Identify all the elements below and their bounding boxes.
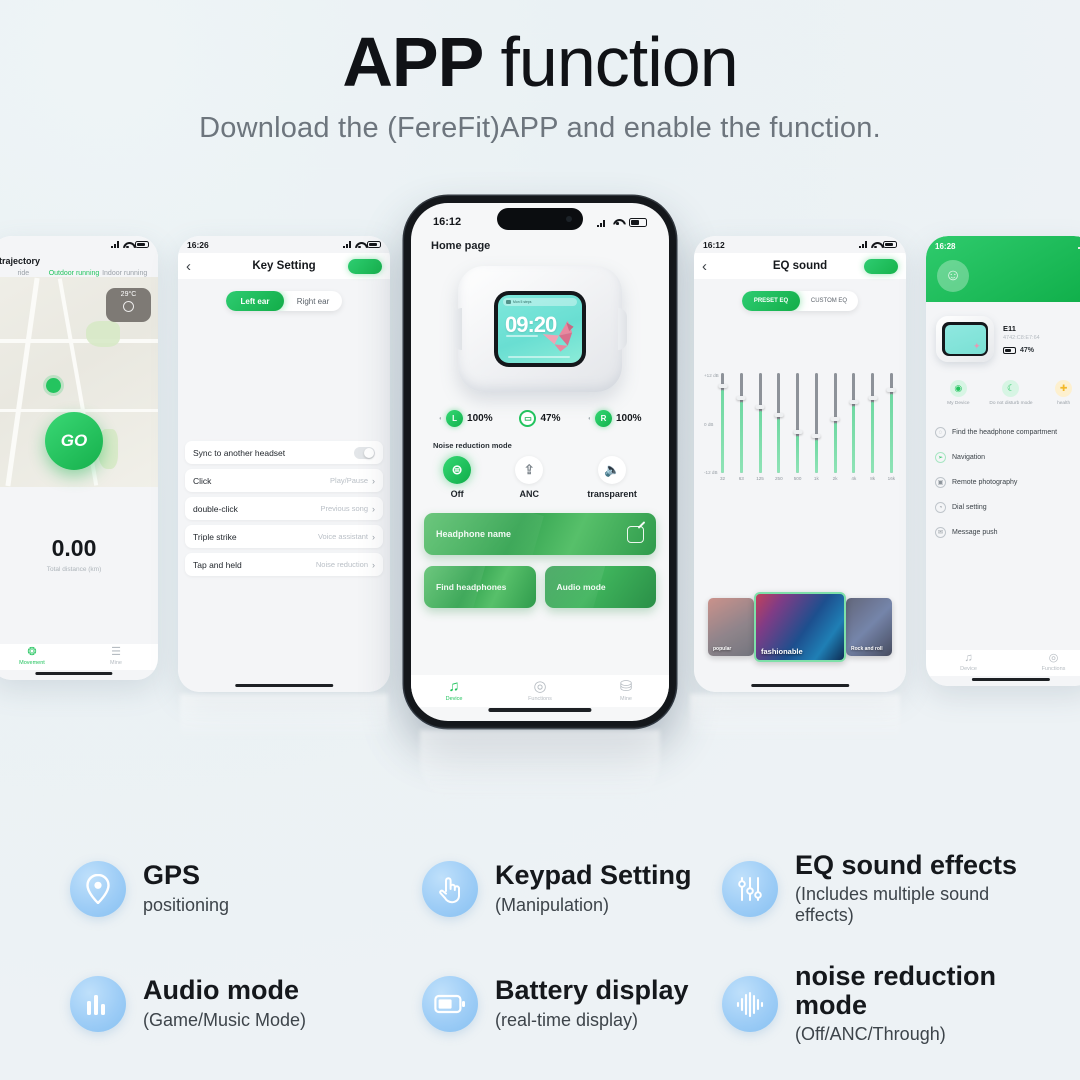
profile-quick-actions[interactable]: ◉ My Device ☾ Do not disturb mode ✚ heal…	[926, 362, 1080, 406]
gps-tabs[interactable]: ride Outdoor running Indoor running	[0, 266, 158, 277]
eq-track[interactable]	[890, 373, 893, 473]
key-screen-content: 16:26 ‹ Key Setting Left ear Right ear S…	[178, 236, 390, 692]
gps-pin-icon	[70, 861, 126, 917]
compass-icon: ◎	[497, 679, 583, 694]
battery-right-badge: R	[595, 410, 612, 427]
profile-tab-device[interactable]: ♫ Device	[926, 653, 1011, 674]
wifi-icon	[613, 218, 625, 227]
battery-case-value: 47%	[540, 413, 560, 424]
eq-slider-16k[interactable]: 16k	[887, 373, 896, 491]
eq-freq-label: 125	[756, 476, 764, 481]
profile-header: 16:28 ☺	[926, 236, 1080, 302]
edit-pencil-icon[interactable]	[627, 526, 644, 543]
navigation-icon: ➢	[935, 452, 946, 463]
list-item-remote-photography-label: Remote photography	[952, 479, 1017, 486]
eq-slider-32[interactable]: 32	[718, 373, 727, 491]
profile-tab-device-label: Device	[960, 666, 977, 672]
battery-icon	[422, 976, 478, 1032]
eq-freq-label: 250	[775, 476, 783, 481]
chevron-right-icon: ›	[372, 476, 375, 486]
compass-icon: ◎	[1011, 653, 1080, 664]
profile-statusbar: 16:28	[935, 242, 1080, 251]
home-tab-device-label: Device	[446, 696, 463, 702]
feature-battery: Battery display (real-time display)	[422, 951, 722, 1056]
map-road	[5, 278, 39, 487]
eq-freq-label: 500	[794, 476, 802, 481]
eq-knob[interactable]	[737, 396, 746, 400]
battery-icon	[135, 241, 149, 249]
profile-tab-functions-label: Functions	[1042, 666, 1066, 672]
wifi-icon	[871, 241, 880, 248]
profile-screen-content: 16:28 ☺ E11 4742:C8:E7:64 47%	[926, 236, 1080, 686]
signal-icon	[597, 218, 609, 227]
feature-noise-reduction-subtitle: (Off/ANC/Through)	[795, 1024, 1040, 1045]
map-park	[86, 321, 120, 347]
list-item-find-compartment[interactable]: ◌ Find the headphone compartment	[935, 420, 1080, 445]
watch-battery-icon	[506, 300, 511, 304]
device-battery-value: 47%	[1020, 347, 1034, 354]
back-chevron-icon[interactable]: ‹	[186, 259, 191, 274]
feature-noise-reduction-text: noise reduction mode (Off/ANC/Through)	[795, 962, 1040, 1045]
gps-tab-ride[interactable]: ride	[0, 270, 49, 277]
noise-mode-transparent[interactable]: 🔈 transparent	[587, 456, 637, 499]
person-icon: ⛁	[583, 679, 669, 694]
eq-thumb-popular[interactable]: popular	[708, 598, 754, 656]
chevron-right-icon: ›	[372, 560, 375, 570]
eq-track[interactable]	[852, 373, 855, 473]
music-icon: ♫	[411, 679, 497, 694]
health-icon: ✚	[1055, 380, 1072, 397]
phone-notch	[497, 208, 583, 230]
gps-tabbar[interactable]: ❂ Movement ☰ Mine	[0, 644, 158, 670]
gps-statusbar	[0, 236, 158, 253]
key-status-time: 16:26	[187, 240, 209, 250]
eq-slider-63[interactable]: 63	[737, 373, 746, 491]
moon-icon: ☾	[1002, 380, 1019, 397]
feature-battery-title: Battery display	[495, 976, 689, 1004]
home-tab-mine-label: Mine	[620, 696, 632, 702]
eq-slider-500[interactable]: 500	[793, 373, 802, 491]
eq-thumb-rock[interactable]: Rock and roll	[846, 598, 892, 656]
gps-nav-title: trajectory	[0, 253, 158, 266]
noise-mode-anc[interactable]: ⇪ ANC	[515, 456, 543, 499]
feature-keypad-text: Keypad Setting (Manipulation)	[495, 861, 692, 915]
eq-slider-250[interactable]: 250	[774, 373, 783, 491]
eq-track[interactable]	[834, 373, 837, 473]
dial-icon: ◔	[935, 502, 946, 513]
list-item-remote-photography[interactable]: ▣ Remote photography	[935, 470, 1080, 495]
gps-tabbar-mine[interactable]: ☰ Mine	[74, 647, 158, 668]
segment-custom-eq[interactable]: CUSTOM EQ	[800, 291, 858, 311]
key-save-button[interactable]	[348, 259, 382, 274]
eq-fill	[834, 423, 837, 473]
eq-freq-label: 63	[739, 476, 744, 481]
eq-home-indicator	[751, 684, 849, 687]
battery-icon	[1003, 347, 1016, 354]
gps-home-indicator	[35, 672, 112, 675]
feature-gps-title: GPS	[143, 861, 229, 889]
eq-knob[interactable]	[793, 430, 802, 434]
gps-tabbar-movement-label: Movement	[19, 660, 45, 666]
eq-save-button[interactable]	[864, 259, 898, 274]
eq-fill	[759, 411, 762, 474]
profile-tab-functions[interactable]: ◎ Functions	[1011, 653, 1080, 674]
page-subtitle: Download the (FereFit)APP and enable the…	[0, 112, 1080, 145]
message-icon: ✉	[935, 527, 946, 538]
signal-icon	[859, 241, 868, 248]
home-screen-content: 16:12 Home page Mon 5 steps 09:20	[411, 203, 669, 721]
feature-eq: EQ sound effects (Includes multiple soun…	[722, 836, 1040, 941]
eq-slider-1k[interactable]: 1k	[812, 373, 821, 491]
phone-gps-screen[interactable]: trajectory ride Outdoor running Indoor r…	[0, 236, 158, 680]
key-navbar: ‹ Key Setting	[178, 253, 390, 279]
profile-device-card[interactable]: E11 4742:C8:E7:64 47%	[926, 302, 1080, 362]
device-watch-face	[945, 325, 986, 354]
audio-mode-card[interactable]: Audio mode	[545, 566, 657, 608]
feature-eq-text: EQ sound effects (Includes multiple soun…	[795, 851, 1040, 926]
noise-reduction-modes[interactable]: ⊜ Off ⇪ ANC 🔈 transparent	[411, 456, 669, 499]
page-title: APP function	[0, 26, 1080, 100]
avatar[interactable]: ☺	[937, 260, 969, 292]
battery-icon	[883, 241, 897, 249]
phone-reflection	[180, 694, 388, 740]
earbud-case-illustration: Mon 5 steps 09:20	[458, 266, 622, 392]
map-road	[0, 339, 158, 343]
eq-fill	[777, 419, 780, 473]
eq-track[interactable]	[871, 373, 874, 473]
chevron-right-icon: ›	[372, 504, 375, 514]
phone-key-setting-screen[interactable]: 16:26 ‹ Key Setting Left ear Right ear S…	[178, 236, 390, 692]
feature-noise-reduction-title: noise reduction mode	[795, 962, 1040, 1019]
waveform-icon	[722, 976, 778, 1032]
battery-right: ◖ R 100%	[587, 410, 641, 427]
key-row-triple-strike[interactable]: Triple strike Voice assistant ›	[185, 525, 383, 548]
eq-freq-label: 4k	[851, 476, 856, 481]
feature-grid: GPS positioning Keypad Setting (Manipula…	[70, 836, 1040, 1056]
home-status-icons	[597, 218, 647, 227]
headphone-name-card[interactable]: Headphone name	[424, 513, 656, 555]
origami-crane-icon	[534, 319, 578, 355]
quick-health[interactable]: ✚ health	[1041, 380, 1080, 406]
find-headphones-label: Find headphones	[436, 582, 506, 592]
leaf-icon: ❂	[0, 647, 74, 658]
home-tabbar[interactable]: ♫ Device ◎ Functions ⛁ Mine	[411, 675, 669, 707]
eq-preset-segment[interactable]: PRESET EQ CUSTOM EQ	[742, 291, 858, 311]
eq-freq-label: 16k	[888, 476, 895, 481]
eq-fill	[721, 390, 724, 473]
segment-preset-eq[interactable]: PRESET EQ	[742, 291, 800, 311]
eq-track[interactable]	[796, 373, 799, 473]
hero-header: APP function Download the (FereFit)APP a…	[0, 0, 1080, 145]
signal-icon	[343, 241, 352, 248]
home-tab-device[interactable]: ♫ Device	[411, 679, 497, 704]
key-row-tap-label: Tap and held	[193, 560, 242, 570]
feature-audio-mode-subtitle: (Game/Music Mode)	[143, 1010, 306, 1031]
quick-my-device-label: My Device	[947, 401, 969, 406]
list-item-find-compartment-label: Find the headphone compartment	[952, 429, 1057, 436]
device-case-thumbnail	[936, 316, 994, 362]
eq-knob[interactable]	[831, 417, 840, 421]
quick-cards: Find headphones Audio mode	[424, 566, 656, 608]
battery-left-badge: L	[446, 410, 463, 427]
gps-distance-caption: Total distance (km)	[0, 566, 158, 573]
feature-noise-reduction: noise reduction mode (Off/ANC/Through)	[722, 951, 1040, 1056]
sun-icon	[123, 301, 134, 312]
eq-track[interactable]	[815, 373, 818, 473]
eq-track[interactable]	[721, 373, 724, 473]
key-row-click-value: Play/Pause	[330, 476, 368, 485]
noise-reduction-label: Noise reduction mode	[433, 441, 669, 450]
feature-audio-mode-text: Audio mode (Game/Music Mode)	[143, 976, 306, 1030]
key-row-tap-held[interactable]: Tap and held Noise reduction ›	[185, 553, 383, 576]
eq-sliders[interactable]: +12 dB 0 dB -12 dB 32631252505001k2k4k8k…	[704, 373, 896, 491]
key-row-tap-value: Noise reduction	[316, 560, 368, 569]
eq-knob[interactable]	[868, 396, 877, 400]
feature-audio-mode: Audio mode (Game/Music Mode)	[70, 951, 422, 1056]
quick-dnd[interactable]: ☾ Do not disturb mode	[988, 380, 1034, 406]
eq-freq-label: 32	[720, 476, 725, 481]
phone-reflection	[420, 730, 660, 802]
key-row-double-click-value: Previous song	[320, 504, 368, 513]
list-item-dial-setting[interactable]: ◔ Dial setting	[935, 495, 1080, 520]
anc-icon: ⇪	[515, 456, 543, 484]
gps-position-marker	[46, 378, 61, 393]
watch-footer-line	[508, 356, 570, 358]
phone-reflection	[690, 694, 900, 740]
key-row-sync[interactable]: Sync to another headset	[185, 441, 383, 464]
quick-health-label: health	[1057, 401, 1070, 406]
eq-knob[interactable]	[756, 405, 765, 409]
noise-off-icon: ⊜	[443, 456, 471, 484]
eq-slider-8k[interactable]: 8k	[868, 373, 877, 491]
eq-slider-columns[interactable]: 32631252505001k2k4k8k16k	[718, 373, 896, 491]
key-row-triple-value: Voice assistant	[318, 532, 368, 541]
case-display: Mon 5 steps 09:20	[494, 291, 586, 367]
title-light: function	[500, 23, 737, 101]
device-battery: 47%	[1003, 347, 1040, 354]
home-page-title: Home page	[411, 228, 669, 252]
feature-gps-text: GPS positioning	[143, 861, 229, 915]
phone-eq-screen[interactable]: 16:12 ‹ EQ sound PRESET EQ CUSTOM EQ +12…	[694, 236, 906, 692]
eq-thumb-fashionable-caption: fashionable	[761, 647, 803, 656]
home-tab-functions[interactable]: ◎ Functions	[497, 679, 583, 704]
gps-weather-temp: 29°C	[121, 291, 137, 298]
feature-keypad: Keypad Setting (Manipulation)	[422, 836, 722, 941]
noise-mode-anc-label: ANC	[519, 489, 539, 499]
list-item-dial-setting-label: Dial setting	[952, 504, 987, 511]
key-row-click[interactable]: Click Play/Pause ›	[185, 469, 383, 492]
eq-freq-label: 8k	[870, 476, 875, 481]
signal-icon	[111, 241, 120, 248]
tap-hand-icon	[422, 861, 478, 917]
eq-fill	[890, 394, 893, 473]
gps-tabbar-movement[interactable]: ❂ Movement	[0, 647, 74, 668]
profile-status-time: 16:28	[935, 242, 955, 251]
key-home-indicator	[235, 684, 333, 687]
camera-icon: ▣	[935, 477, 946, 488]
person-icon: ☰	[74, 647, 158, 658]
watch-status-bar: Mon 5 steps	[503, 298, 577, 306]
feature-audio-mode-title: Audio mode	[143, 976, 306, 1004]
eq-fill	[852, 406, 855, 473]
home-tab-functions-label: Functions	[528, 696, 552, 702]
back-chevron-icon[interactable]: ‹	[702, 259, 707, 274]
eq-knob[interactable]	[887, 388, 896, 392]
eq-knob[interactable]	[774, 413, 783, 417]
eq-fill	[871, 402, 874, 473]
eq-status-time: 16:12	[703, 240, 725, 250]
gps-tabbar-mine-label: Mine	[110, 660, 122, 666]
list-item-message-push[interactable]: ✉ Message push	[935, 520, 1080, 545]
noise-mode-off[interactable]: ⊜ Off	[443, 456, 471, 499]
key-row-click-label: Click	[193, 476, 211, 486]
music-icon: ♫	[926, 653, 1011, 664]
find-headphones-card[interactable]: Find headphones	[424, 566, 536, 608]
eq-fill	[740, 402, 743, 473]
profile-list[interactable]: ◌ Find the headphone compartment ➢ Navig…	[926, 406, 1080, 545]
eq-thumb-popular-caption: popular	[713, 646, 731, 652]
locate-icon: ◌	[935, 427, 946, 438]
gps-go-button[interactable]: GO	[45, 412, 103, 470]
feature-gps-subtitle: positioning	[143, 895, 229, 916]
phone-profile-screen[interactable]: 16:28 ☺ E11 4742:C8:E7:64 47%	[926, 236, 1080, 686]
sync-toggle[interactable]	[354, 447, 375, 459]
eq-statusbar: 16:12	[694, 236, 906, 253]
audio-mode-label: Audio mode	[557, 582, 606, 592]
noise-mode-transparent-label: transparent	[587, 489, 637, 499]
battery-icon	[629, 218, 647, 227]
eq-track[interactable]	[740, 373, 743, 473]
device-meta: E11 4742:C8:E7:64 47%	[1003, 324, 1040, 354]
feature-eq-subtitle: (Includes multiple sound effects)	[795, 884, 1040, 926]
list-item-navigation-label: Navigation	[952, 454, 985, 461]
key-row-triple-label: Triple strike	[193, 532, 237, 542]
phone-home-screen[interactable]: 16:12 Home page Mon 5 steps 09:20	[404, 196, 676, 728]
key-row-double-click[interactable]: double-click Previous song ›	[185, 497, 383, 520]
battery-left-lead-icon: ◖	[438, 416, 442, 422]
feature-keypad-subtitle: (Manipulation)	[495, 895, 692, 916]
eq-fill	[796, 436, 799, 474]
eq-freq-label: 2k	[833, 476, 838, 481]
eq-freq-label: 1k	[814, 476, 819, 481]
key-status-icons	[343, 241, 381, 249]
battery-right-value: 100%	[616, 413, 642, 424]
profile-home-indicator	[972, 678, 1050, 681]
watch-face: Mon 5 steps 09:20	[498, 295, 582, 363]
transparent-icon: 🔈	[598, 456, 626, 484]
gps-status-icons	[111, 241, 149, 249]
gps-screen-content: trajectory ride Outdoor running Indoor r…	[0, 236, 158, 680]
audio-bars-icon	[70, 976, 126, 1032]
quick-my-device[interactable]: ◉ My Device	[935, 380, 981, 406]
gps-weather-chip[interactable]: 29°C	[106, 288, 151, 322]
key-row-double-click-label: double-click	[193, 504, 238, 514]
device-icon: ◉	[950, 380, 967, 397]
key-ear-segment[interactable]: Left ear Right ear	[226, 291, 342, 311]
home-status-time: 16:12	[433, 216, 461, 228]
battery-icon	[367, 241, 381, 249]
home-tab-mine[interactable]: ⛁ Mine	[583, 679, 669, 704]
list-item-message-push-label: Message push	[952, 529, 998, 536]
eq-navbar: ‹ EQ sound	[694, 253, 906, 279]
poster-stage: APP function Download the (FereFit)APP a…	[0, 0, 1080, 1080]
eq-slider-125[interactable]: 125	[756, 373, 765, 491]
segment-right-ear[interactable]: Right ear	[284, 291, 342, 311]
eq-thumb-rock-caption: Rock and roll	[851, 646, 883, 652]
gps-tab-outdoor[interactable]: Outdoor running	[49, 270, 100, 277]
gps-tab-indoor[interactable]: Indoor running	[99, 270, 150, 277]
feature-eq-title: EQ sound effects	[795, 851, 1040, 879]
device-id: 4742:C8:E7:64	[1003, 335, 1040, 341]
feature-keypad-title: Keypad Setting	[495, 861, 692, 889]
segment-left-ear[interactable]: Left ear	[226, 291, 284, 311]
eq-fill	[815, 440, 818, 473]
key-rows: Sync to another headset Click Play/Pause…	[185, 441, 383, 576]
gps-distance-value: 0.00	[0, 535, 158, 562]
wifi-icon	[123, 241, 132, 248]
feature-battery-text: Battery display (real-time display)	[495, 976, 689, 1030]
eq-track[interactable]	[759, 373, 762, 473]
quick-dnd-label: Do not disturb mode	[989, 401, 1032, 406]
wifi-icon	[355, 241, 364, 248]
home-indicator	[488, 708, 591, 712]
battery-case-badge: ▭	[519, 410, 536, 427]
eq-track[interactable]	[777, 373, 780, 473]
device-name: E11	[1003, 324, 1040, 333]
eq-screen-content: 16:12 ‹ EQ sound PRESET EQ CUSTOM EQ +12…	[694, 236, 906, 692]
feature-battery-subtitle: (real-time display)	[495, 1010, 689, 1031]
watch-bar-text: Mon 5 steps	[513, 300, 531, 304]
eq-status-icons	[859, 241, 897, 249]
battery-left: ◖ L 100%	[438, 410, 492, 427]
battery-right-lead-icon: ◖	[587, 416, 591, 422]
feature-gps: GPS positioning	[70, 836, 422, 941]
list-item-navigation[interactable]: ➢ Navigation	[935, 445, 1080, 470]
eq-thumb-fashionable[interactable]: fashionable	[754, 592, 846, 662]
noise-mode-off-label: Off	[451, 489, 464, 499]
eq-slider-2k[interactable]: 2k	[831, 373, 840, 491]
headphone-name-label: Headphone name	[436, 529, 511, 539]
equalizer-icon	[722, 861, 778, 917]
eq-slider-4k[interactable]: 4k	[849, 373, 858, 491]
battery-row: ◖ L 100% ▭ 47% ◖ R 100%	[425, 410, 655, 427]
chevron-right-icon: ›	[372, 532, 375, 542]
eq-knob[interactable]	[849, 400, 858, 404]
eq-knob[interactable]	[718, 384, 727, 388]
battery-left-value: 100%	[467, 413, 493, 424]
eq-knob[interactable]	[812, 434, 821, 438]
key-row-sync-label: Sync to another headset	[193, 448, 285, 458]
title-bold: APP	[342, 23, 482, 101]
profile-tabbar[interactable]: ♫ Device ◎ Functions	[926, 650, 1080, 676]
key-statusbar: 16:26	[178, 236, 390, 253]
battery-case: ▭ 47%	[519, 410, 560, 427]
eq-preset-thumbnails[interactable]: popular fashionable Rock and roll	[694, 592, 906, 662]
